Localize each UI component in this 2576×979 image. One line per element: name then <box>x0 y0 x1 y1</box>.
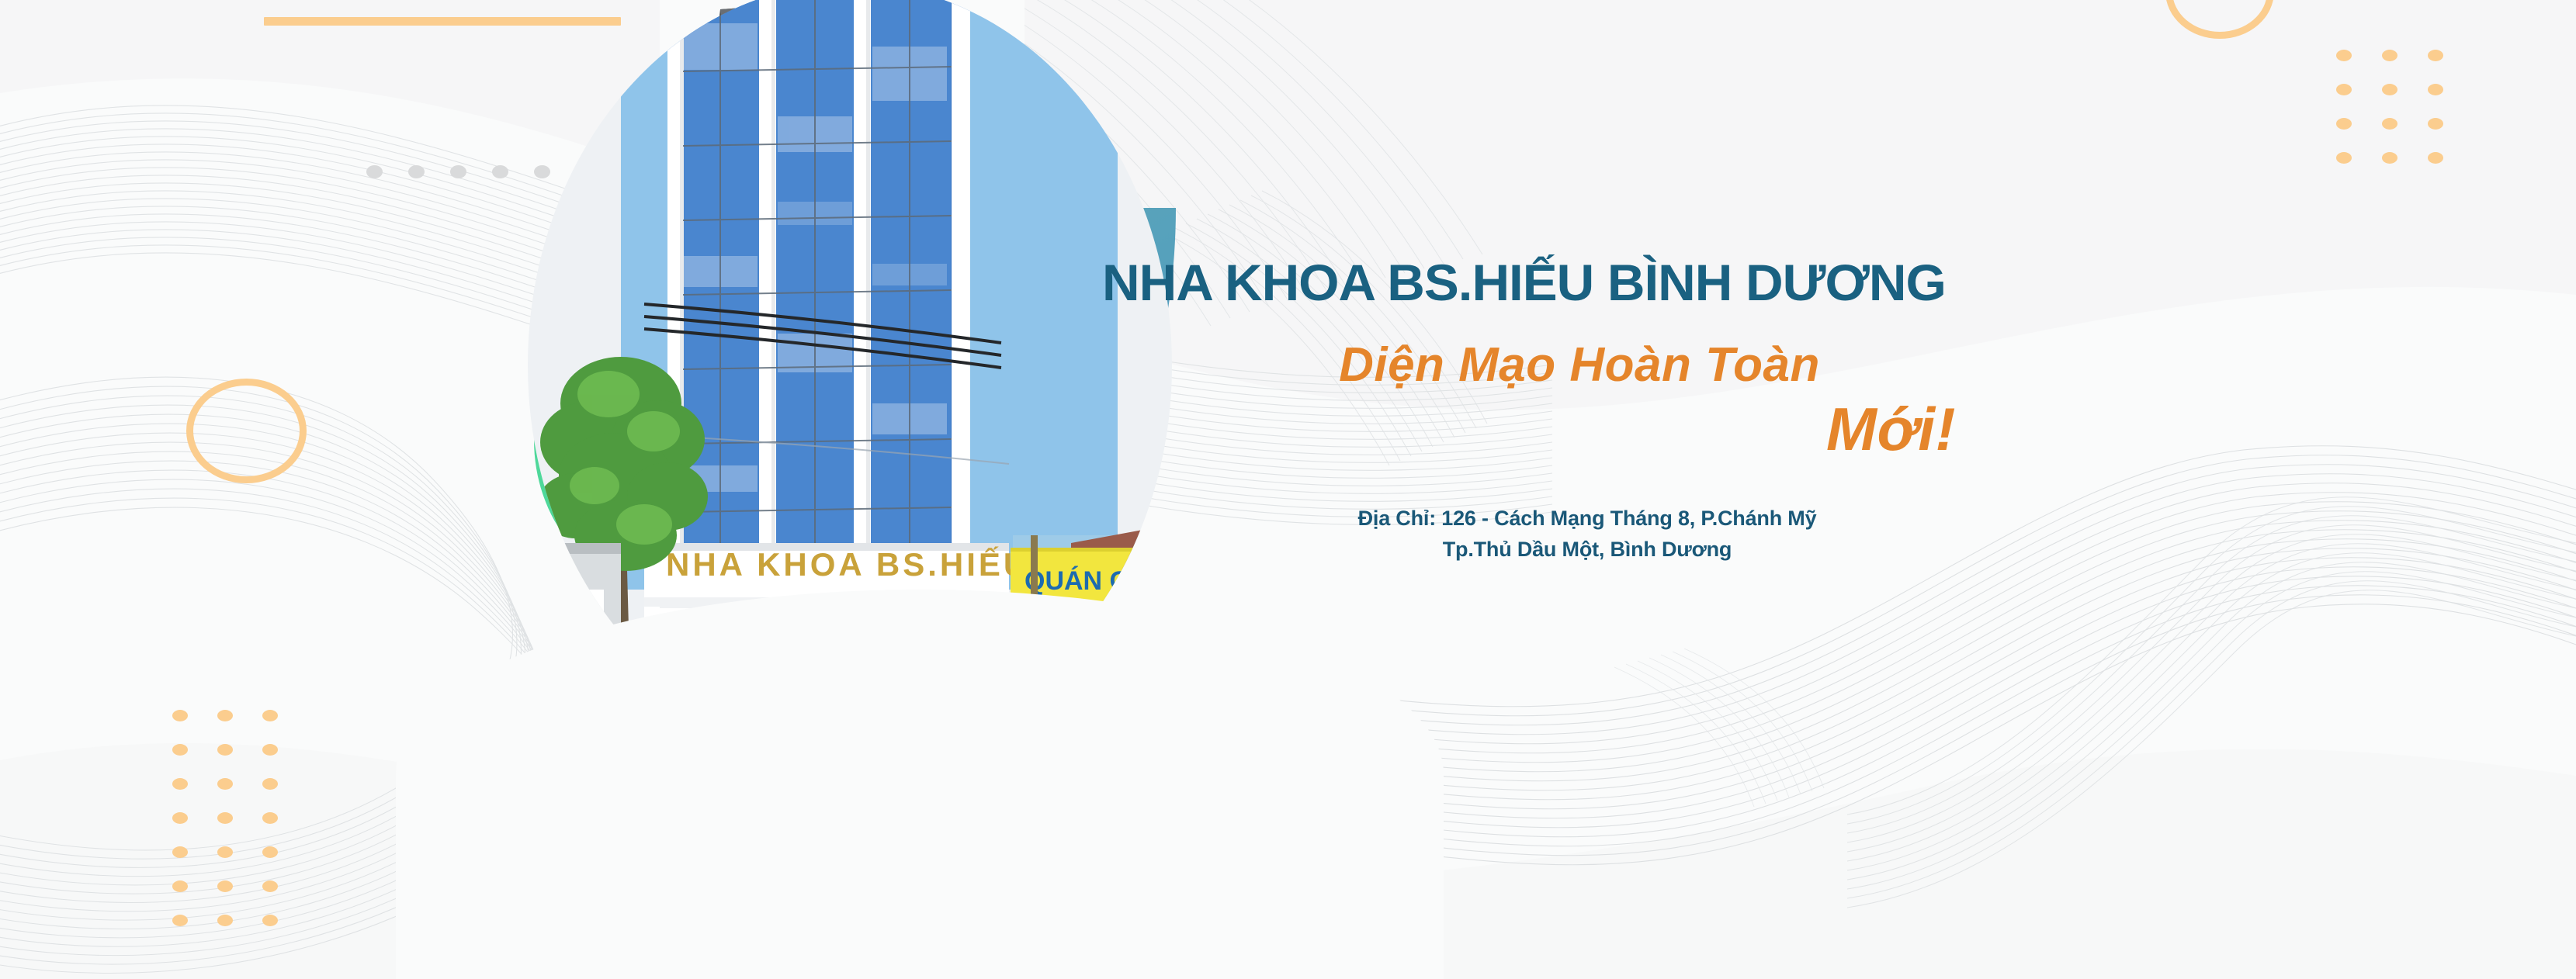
promo-banner: NHA KHOA BS.HIẾU <box>0 0 2576 979</box>
clinic-photo-composite: NHA KHOA BS.HIẾU <box>528 0 1172 830</box>
facade-sign-text: NHA KHOA BS.HIẾU <box>666 546 1030 583</box>
neighbor-sign-title: QUÁN CƠM <box>1025 566 1172 596</box>
subtitle-line-1: Diện Mạo Hoàn Toàn <box>1102 339 2111 392</box>
grey-dot <box>492 165 508 178</box>
banner-text-block: NHA KHOA BS.HIẾU BÌNH DƯƠNG Diện Mạo Hoà… <box>1102 256 2111 565</box>
white-curve-overlay <box>396 590 1444 979</box>
orange-dot-grid-bottomleft <box>172 710 307 949</box>
grey-dot <box>408 165 425 178</box>
orange-circle-outline-left <box>186 379 307 483</box>
svg-text:ÂN: ÂN <box>532 601 577 637</box>
grey-dot <box>450 165 466 178</box>
address-block: Địa Chỉ: 126 - Cách Mạng Tháng 8, P.Chán… <box>1102 503 2111 564</box>
page-title: NHA KHOA BS.HIẾU BÌNH DƯƠNG <box>1102 256 2131 310</box>
grey-dot <box>366 165 383 178</box>
address-line-2: Tp.Thủ Dầu Một, Bình Dương <box>1102 534 2072 565</box>
address-line-1: Địa Chỉ: 126 - Cách Mạng Tháng 8, P.Chán… <box>1102 503 2072 534</box>
orange-circle-outline-topright <box>2165 0 2274 39</box>
subtitle-line-2: Mới! <box>1102 398 2111 462</box>
orange-dot-grid-topright <box>2336 50 2474 186</box>
